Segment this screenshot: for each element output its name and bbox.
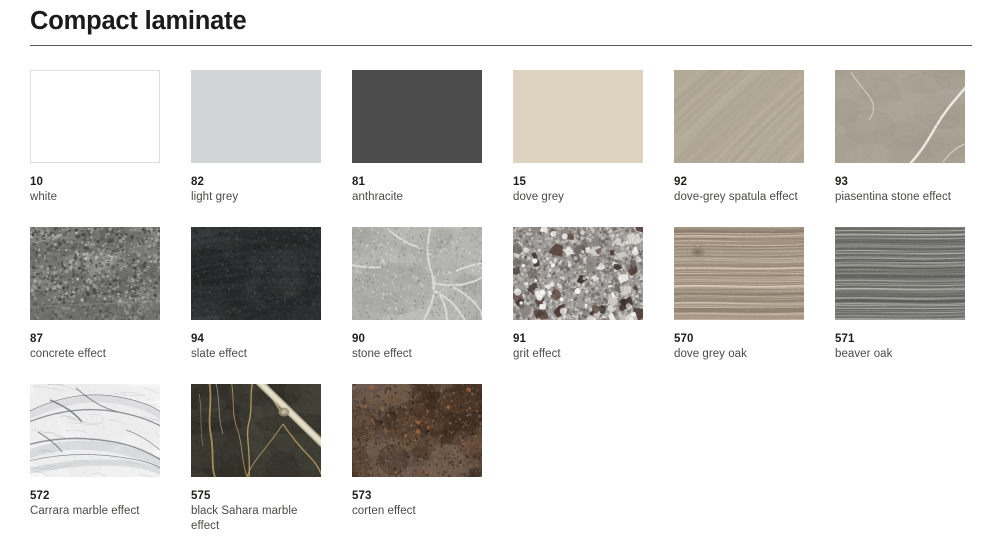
swatch-code: 82 [191,175,321,189]
page-title: Compact laminate [30,4,972,38]
swatch-cell[interactable]: 81anthracite [352,70,482,227]
swatch-name: anthracite [352,190,482,205]
swatch-sample-91[interactable] [513,227,643,320]
material-palette-page: Compact laminate 10white82light grey81an… [0,0,1000,559]
swatch-sample-93[interactable] [835,70,965,163]
swatch-code: 573 [352,489,482,503]
swatch-cell[interactable]: 575black Sahara marble effect [191,384,321,541]
swatch-sample-10[interactable] [30,70,160,163]
swatch-cell[interactable]: 15dove grey [513,70,643,227]
swatch-sample-94[interactable] [191,227,321,320]
swatch-cell[interactable]: 92dove-grey spatula effect [674,70,804,227]
title-divider [30,45,972,46]
swatch-cell[interactable]: 94slate effect [191,227,321,384]
swatch-code: 91 [513,332,643,346]
swatch-code: 15 [513,175,643,189]
page-header: Compact laminate [30,4,972,46]
swatch-name: stone effect [352,347,482,362]
swatch-name: concrete effect [30,347,160,362]
swatch-name: grit effect [513,347,643,362]
swatch-name: white [30,190,160,205]
swatch-sample-572[interactable] [30,384,160,477]
swatch-sample-570[interactable] [674,227,804,320]
swatch-sample-92[interactable] [674,70,804,163]
swatch-cell[interactable]: 82light grey [191,70,321,227]
swatch-code: 87 [30,332,160,346]
swatch-name: black Sahara marble effect [191,504,321,534]
swatch-code: 570 [674,332,804,346]
swatch-code: 10 [30,175,160,189]
swatch-name: slate effect [191,347,321,362]
swatch-cell[interactable]: 10white [30,70,160,227]
swatch-cell[interactable]: 573corten effect [352,384,482,541]
swatch-sample-573[interactable] [352,384,482,477]
swatch-name: dove-grey spatula effect [674,190,804,205]
swatch-cell[interactable]: 571beaver oak [835,227,965,384]
swatch-code: 575 [191,489,321,503]
swatch-name: light grey [191,190,321,205]
swatch-sample-87[interactable] [30,227,160,320]
swatch-cell[interactable]: 87concrete effect [30,227,160,384]
swatch-code: 90 [352,332,482,346]
swatch-cell[interactable]: 93piasentina stone effect [835,70,965,227]
swatch-cell[interactable]: 91grit effect [513,227,643,384]
swatch-name: Carrara marble effect [30,504,160,519]
swatch-sample-15[interactable] [513,70,643,163]
swatch-sample-571[interactable] [835,227,965,320]
swatch-name: piasentina stone effect [835,190,965,205]
swatch-cell[interactable]: 572Carrara marble effect [30,384,160,541]
swatch-code: 93 [835,175,965,189]
swatch-sample-575[interactable] [191,384,321,477]
swatch-sample-81[interactable] [352,70,482,163]
swatch-grid: 10white82light grey81anthracite15dove gr… [30,70,975,541]
swatch-code: 571 [835,332,965,346]
swatch-code: 92 [674,175,804,189]
swatch-code: 572 [30,489,160,503]
swatch-name: corten effect [352,504,482,519]
swatch-cell[interactable]: 570dove grey oak [674,227,804,384]
swatch-code: 94 [191,332,321,346]
swatch-name: dove grey [513,190,643,205]
swatch-name: dove grey oak [674,347,804,362]
swatch-code: 81 [352,175,482,189]
swatch-sample-90[interactable] [352,227,482,320]
swatch-sample-82[interactable] [191,70,321,163]
swatch-cell[interactable]: 90stone effect [352,227,482,384]
swatch-name: beaver oak [835,347,965,362]
